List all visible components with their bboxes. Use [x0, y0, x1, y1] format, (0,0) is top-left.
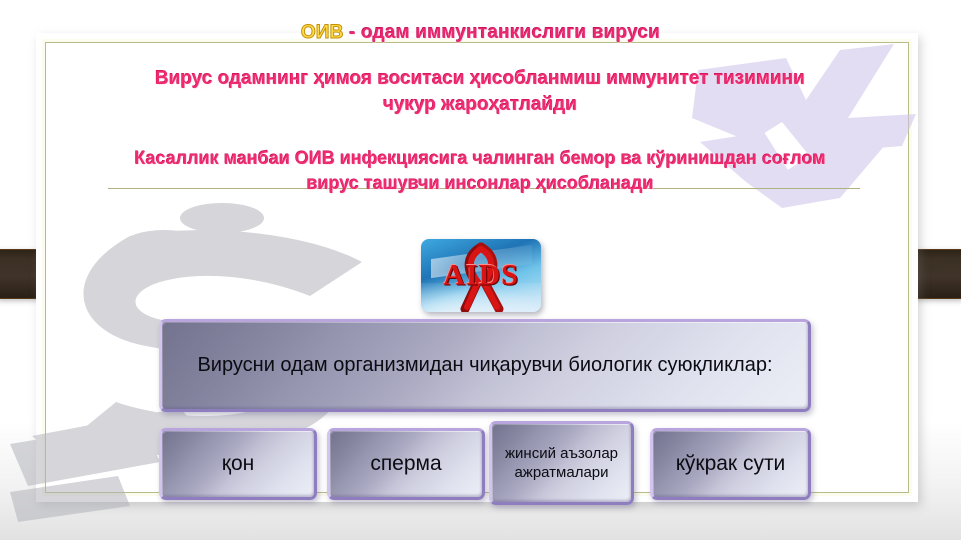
- slide-canvas: ОИВ - одам иммунтанкислиги вируси Вирус …: [0, 0, 961, 540]
- fluid-box-breast-milk: кўкрак сути: [650, 428, 811, 500]
- fluid-box-sperm-label: сперма: [370, 451, 441, 478]
- fluid-box-sperm: сперма: [327, 428, 485, 500]
- page-title: ОИВ - одам иммунтанкислиги вируси: [0, 22, 961, 44]
- fluid-box-blood: қон: [159, 428, 317, 500]
- fluid-box-genital-secretions-label: жинсий аъзолар ажратмалари: [492, 444, 631, 482]
- fluid-box-blood-label: қон: [222, 451, 254, 478]
- paragraph-virus-immunity: Вирус одамнинг ҳимоя воситаси ҳисобланми…: [130, 66, 830, 118]
- paragraph-disease-source: Касаллик манбаи ОИВ инфекциясига чалинга…: [130, 146, 830, 196]
- aids-ribbon-logo: AIDS: [421, 239, 541, 312]
- title-highlight-oiv: ОИВ: [301, 22, 344, 43]
- main-statement-text: Вирусни одам организмидан чиқарувчи биол…: [197, 353, 772, 379]
- main-statement-box: Вирусни одам организмидан чиқарувчи биол…: [159, 319, 811, 412]
- title-remainder: - одам иммунтанкислиги вируси: [344, 22, 661, 43]
- fluid-box-genital-secretions: жинсий аъзолар ажратмалари: [489, 421, 634, 505]
- aids-logo-text: AIDS: [421, 258, 541, 292]
- fluid-box-breast-milk-label: кўкрак сути: [676, 451, 786, 478]
